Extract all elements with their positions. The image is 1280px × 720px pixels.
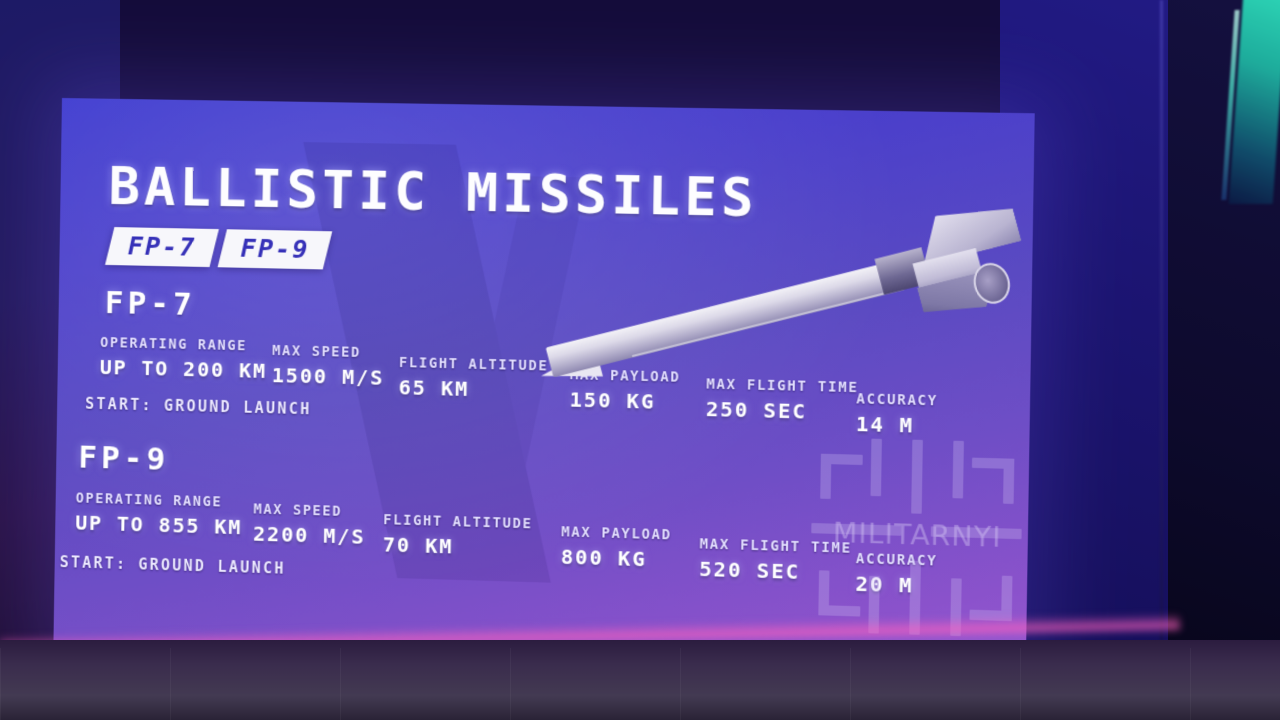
model-badge-group: FP-7 FP-9	[109, 227, 328, 270]
spec-label: OPERATING RANGE	[76, 490, 243, 511]
spec-value: 2200 M/S	[253, 521, 366, 548]
spec-fp9-max-speed: MAX SPEED 2200 M/S	[253, 501, 366, 549]
spec-label: MAX SPEED	[253, 501, 366, 520]
spec-value: 70 KM	[383, 532, 533, 561]
model-heading-fp9: FP-9	[78, 439, 169, 477]
spec-label: FLIGHT ALTITUDE	[383, 512, 533, 532]
start-note-fp7: START: GROUND LAUNCH	[85, 395, 312, 419]
spec-label: MAX PAYLOAD	[561, 524, 672, 543]
wall-seam	[1160, 0, 1163, 720]
spec-label: OPERATING RANGE	[100, 335, 267, 355]
missile-body	[546, 260, 906, 377]
spec-value: 1500 M/S	[272, 363, 385, 390]
spec-fp7-max-speed: MAX SPEED 1500 M/S	[272, 343, 385, 390]
spec-value: UP TO 200 KM	[100, 355, 268, 383]
presentation-room: BALLISTIC MISSILES FP-7 FP-9 FP-7 OPERAT…	[0, 0, 1280, 720]
slide-surface: BALLISTIC MISSILES FP-7 FP-9 FP-7 OPERAT…	[53, 98, 1035, 696]
slide-content: BALLISTIC MISSILES FP-7 FP-9 FP-7 OPERAT…	[53, 98, 1035, 696]
spec-value: UP TO 855 KM	[75, 510, 242, 539]
model-heading-fp7: FP-7	[105, 285, 197, 323]
badge-fp7-label: FP-7	[128, 231, 197, 261]
spec-fp9-flight-altitude: FLIGHT ALTITUDE 70 KM	[383, 512, 533, 561]
spec-value: 800 KG	[561, 544, 672, 572]
spec-fp9-operating-range: OPERATING RANGE UP TO 855 KM	[75, 490, 243, 539]
spec-fp7-operating-range: OPERATING RANGE UP TO 200 KM	[100, 335, 268, 383]
badge-fp7[interactable]: FP-7	[105, 227, 219, 267]
projection-screen: BALLISTIC MISSILES FP-7 FP-9 FP-7 OPERAT…	[53, 98, 1035, 696]
spec-fp9-max-payload: MAX PAYLOAD 800 KG	[561, 524, 672, 572]
badge-fp9-label: FP-9	[241, 234, 310, 265]
stage-floor-seams	[0, 648, 1280, 720]
start-note-fp9: START: GROUND LAUNCH	[60, 553, 286, 578]
badge-fp9[interactable]: FP-9	[218, 229, 333, 269]
page-title: BALLISTIC MISSILES	[108, 157, 758, 230]
spec-label: MAX SPEED	[272, 343, 385, 362]
